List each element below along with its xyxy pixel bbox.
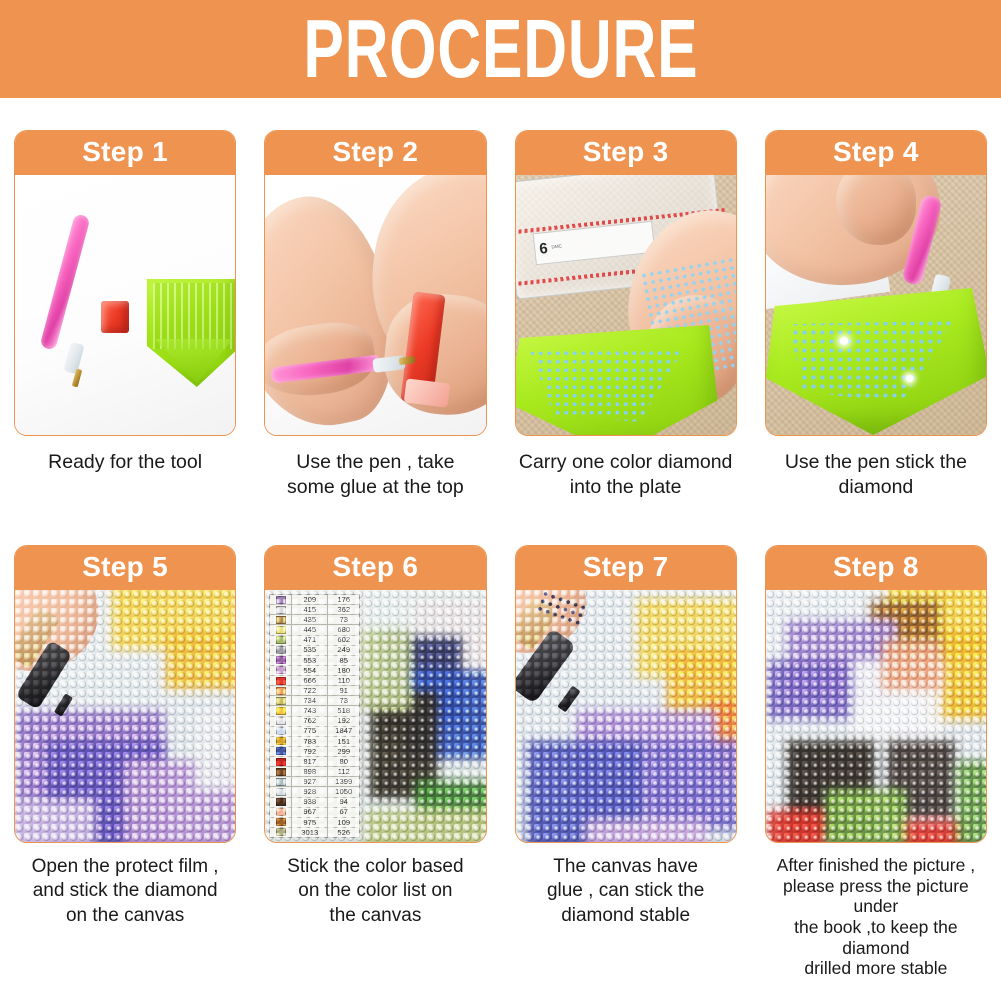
color-symbol-swatch bbox=[270, 808, 292, 817]
color-list-row: 72291 bbox=[270, 686, 359, 696]
color-quantity: 91 bbox=[328, 686, 359, 695]
step-caption-6: Stick the color based on the color list … bbox=[264, 855, 486, 928]
color-quantity: 518 bbox=[328, 706, 359, 715]
step-header-6: Step 6 bbox=[265, 546, 485, 590]
color-quantity: 180 bbox=[328, 666, 359, 675]
step-cell-5: Step 5 bbox=[0, 535, 250, 1001]
canvas-mosaic-with-chart: 2091764153624357344568047160253524955385… bbox=[265, 590, 485, 842]
color-code: 3013 bbox=[292, 828, 328, 837]
step-cell-4: Step 4 bbox=[751, 98, 1001, 535]
color-quantity: 1847 bbox=[328, 727, 359, 736]
color-symbol-swatch bbox=[270, 666, 292, 675]
step-card-2: Step 2 bbox=[264, 130, 486, 436]
color-code: 553 bbox=[292, 656, 328, 665]
color-list-row: 93894 bbox=[270, 798, 359, 808]
color-quantity: 85 bbox=[328, 656, 359, 665]
step-image-1 bbox=[15, 175, 235, 435]
step-card-3: Step 3 6 DMC bbox=[515, 130, 737, 436]
color-symbol-swatch bbox=[270, 727, 292, 736]
step-header-4: Step 4 bbox=[766, 131, 986, 175]
color-quantity: 249 bbox=[328, 646, 359, 655]
step-header-8: Step 8 bbox=[766, 546, 986, 590]
color-quantity: 67 bbox=[328, 808, 359, 817]
color-symbol-swatch bbox=[270, 777, 292, 786]
step-image-3: 6 DMC bbox=[516, 175, 736, 435]
color-quantity: 110 bbox=[328, 676, 359, 685]
color-code: 666 bbox=[292, 676, 328, 685]
color-symbol-swatch bbox=[270, 828, 292, 837]
color-symbol-swatch bbox=[270, 767, 292, 776]
color-quantity: 94 bbox=[328, 798, 359, 807]
step-cell-6: Step 6 209176415362435734 bbox=[250, 535, 500, 1001]
color-code: 783 bbox=[292, 737, 328, 746]
color-list-row: 3013526 bbox=[270, 828, 359, 837]
color-code: 743 bbox=[292, 706, 328, 715]
color-code: 792 bbox=[292, 747, 328, 756]
color-symbol-swatch bbox=[270, 696, 292, 705]
color-symbol-swatch bbox=[270, 737, 292, 746]
step-image-8 bbox=[766, 590, 986, 842]
step-cell-1: Step 1 bbox=[0, 98, 250, 535]
step-caption-4: Use the pen stick the diamond bbox=[765, 450, 987, 500]
step-header-1: Step 1 bbox=[15, 131, 235, 175]
step-cell-7: Step 7 bbox=[501, 535, 751, 1001]
color-code: 817 bbox=[292, 757, 328, 766]
step-caption-3: Carry one color diamond into the plate bbox=[515, 450, 737, 500]
steps-grid: Step 1 bbox=[0, 98, 1001, 1001]
color-quantity: 109 bbox=[328, 818, 359, 827]
step-header-7: Step 7 bbox=[516, 546, 736, 590]
color-list-row: 535249 bbox=[270, 646, 359, 656]
procedure-infographic: PROCEDURE Step 1 bbox=[0, 0, 1001, 1001]
color-code: 535 bbox=[292, 646, 328, 655]
color-symbol-swatch bbox=[270, 636, 292, 645]
color-list-row: 783151 bbox=[270, 737, 359, 747]
step-cell-8: Step 8 bbox=[751, 535, 1001, 1001]
color-list-row: 9281050 bbox=[270, 787, 359, 797]
color-quantity: 73 bbox=[328, 696, 359, 705]
color-list-row: 554180 bbox=[270, 666, 359, 676]
step-header-2: Step 2 bbox=[265, 131, 485, 175]
finished-painting-mosaic bbox=[766, 590, 986, 842]
color-list-row: 96767 bbox=[270, 808, 359, 818]
color-list-row: 445680 bbox=[270, 625, 359, 635]
step-caption-5: Open the protect film , and stick the di… bbox=[14, 855, 236, 928]
color-list-row: 666110 bbox=[270, 676, 359, 686]
page-title: PROCEDURE bbox=[303, 8, 698, 91]
color-list-row: 73473 bbox=[270, 696, 359, 706]
color-list-row: 55385 bbox=[270, 656, 359, 666]
color-quantity: 112 bbox=[328, 767, 359, 776]
color-list-row: 43573 bbox=[270, 615, 359, 625]
color-code: 927 bbox=[292, 777, 328, 786]
bag-number: 6 bbox=[538, 239, 548, 257]
color-list-row: 743518 bbox=[270, 706, 359, 716]
color-symbol-swatch bbox=[270, 605, 292, 614]
color-list-row: 81780 bbox=[270, 757, 359, 767]
color-code: 967 bbox=[292, 808, 328, 817]
color-list-row: 762192 bbox=[270, 717, 359, 727]
step-cell-2: Step 2 bbox=[250, 98, 500, 535]
color-symbol-swatch bbox=[270, 787, 292, 796]
color-code: 762 bbox=[292, 717, 328, 726]
step-image-5 bbox=[15, 590, 235, 842]
canvas-mosaic-pen bbox=[516, 590, 736, 842]
color-quantity: 1050 bbox=[328, 787, 359, 796]
color-symbol-swatch bbox=[270, 757, 292, 766]
color-quantity: 299 bbox=[328, 747, 359, 756]
step-image-7 bbox=[516, 590, 736, 842]
step-header-3: Step 3 bbox=[516, 131, 736, 175]
color-list-row: 975109 bbox=[270, 818, 359, 828]
color-code: 722 bbox=[292, 686, 328, 695]
bag-small-text: DMC bbox=[551, 244, 562, 251]
color-code: 938 bbox=[292, 798, 328, 807]
color-quantity: 1399 bbox=[328, 777, 359, 786]
color-code: 471 bbox=[292, 636, 328, 645]
color-symbol-swatch bbox=[270, 615, 292, 624]
step-header-5: Step 5 bbox=[15, 546, 235, 590]
color-quantity: 680 bbox=[328, 625, 359, 634]
color-symbol-swatch bbox=[270, 747, 292, 756]
color-symbol-swatch bbox=[270, 646, 292, 655]
color-list-table: 2091764153624357344568047160253524955385… bbox=[269, 594, 360, 838]
color-code: 975 bbox=[292, 818, 328, 827]
color-code: 445 bbox=[292, 625, 328, 634]
canvas-mosaic bbox=[15, 590, 235, 842]
step-card-6: Step 6 209176415362435734 bbox=[264, 545, 486, 843]
color-list-row: 471602 bbox=[270, 636, 359, 646]
color-code: 554 bbox=[292, 666, 328, 675]
color-code: 898 bbox=[292, 767, 328, 776]
page-banner: PROCEDURE bbox=[0, 0, 1001, 98]
color-code: 415 bbox=[292, 605, 328, 614]
color-list-row: 7751847 bbox=[270, 727, 359, 737]
step-cell-3: Step 3 6 DMC bbox=[501, 98, 751, 535]
step-image-2 bbox=[265, 175, 485, 435]
color-quantity: 176 bbox=[328, 595, 359, 604]
color-quantity: 80 bbox=[328, 757, 359, 766]
color-symbol-swatch bbox=[270, 656, 292, 665]
step-image-6: 2091764153624357344568047160253524955385… bbox=[265, 590, 485, 842]
color-quantity: 362 bbox=[328, 605, 359, 614]
color-quantity: 151 bbox=[328, 737, 359, 746]
color-symbol-swatch bbox=[270, 625, 292, 634]
step-card-1: Step 1 bbox=[14, 130, 236, 436]
color-code: 928 bbox=[292, 787, 328, 796]
step-card-8: Step 8 bbox=[765, 545, 987, 843]
color-code: 775 bbox=[292, 727, 328, 736]
color-code: 435 bbox=[292, 615, 328, 624]
color-symbol-swatch bbox=[270, 717, 292, 726]
color-quantity: 192 bbox=[328, 717, 359, 726]
color-symbol-swatch bbox=[270, 686, 292, 695]
step-caption-7: The canvas have glue , can stick the dia… bbox=[515, 855, 737, 928]
color-list-row: 792299 bbox=[270, 747, 359, 757]
color-symbol-swatch bbox=[270, 798, 292, 807]
step-caption-8: After finished the picture , please pres… bbox=[765, 855, 987, 979]
color-quantity: 526 bbox=[328, 828, 359, 837]
color-quantity: 602 bbox=[328, 636, 359, 645]
step-caption-2: Use the pen , take some glue at the top bbox=[264, 450, 486, 500]
step-card-7: Step 7 bbox=[515, 545, 737, 843]
step-caption-1: Ready for the tool bbox=[14, 450, 236, 475]
color-symbol-swatch bbox=[270, 706, 292, 715]
step-card-5: Step 5 bbox=[14, 545, 236, 843]
color-list-row: 898112 bbox=[270, 767, 359, 777]
color-symbol-swatch bbox=[270, 818, 292, 827]
color-list-row: 209176 bbox=[270, 595, 359, 605]
color-list-row: 9271399 bbox=[270, 777, 359, 787]
color-code: 734 bbox=[292, 696, 328, 705]
color-code: 209 bbox=[292, 595, 328, 604]
color-symbol-swatch bbox=[270, 676, 292, 685]
color-quantity: 73 bbox=[328, 615, 359, 624]
step-image-4 bbox=[766, 175, 986, 435]
step-card-4: Step 4 bbox=[765, 130, 987, 436]
color-symbol-swatch bbox=[270, 595, 292, 604]
color-list-row: 415362 bbox=[270, 605, 359, 615]
